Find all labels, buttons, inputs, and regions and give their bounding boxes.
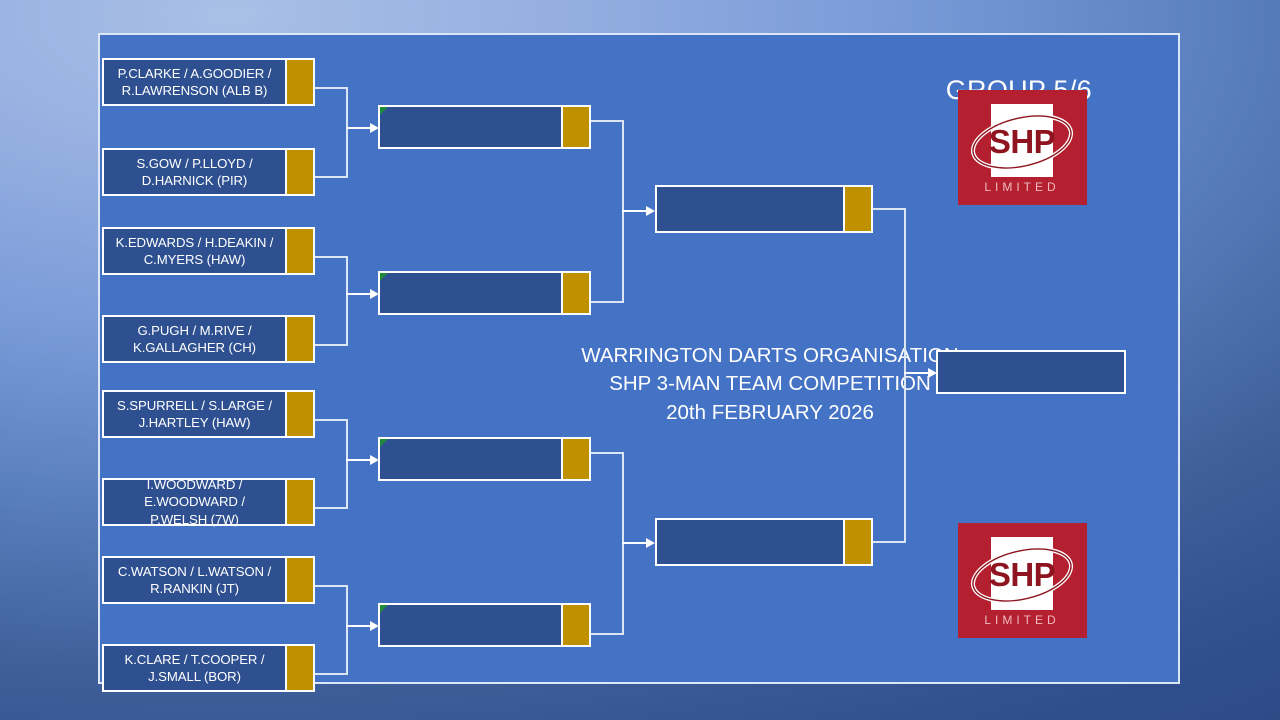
quarterfinal-score-3[interactable] (561, 437, 591, 481)
connector-qf-s1-top (591, 120, 624, 122)
connector-r1-p4-bottom (315, 673, 348, 675)
team-name-8: K.CLARE / T.COOPER / J.SMALL (BOR) (121, 651, 269, 686)
svg-text:LIMITED: LIMITED (984, 180, 1059, 194)
quarterfinal-box-4[interactable] (378, 603, 563, 647)
team-score-2[interactable] (285, 148, 315, 196)
team-box-5[interactable]: S.SPURRELL / S.LARGE / J.HARTLEY (HAW) (102, 390, 287, 438)
connector-r1-p2-arrow-line (346, 293, 372, 295)
quarterfinal-box-2[interactable] (378, 271, 563, 315)
connector-qf-s1-bottom (591, 301, 624, 303)
semifinal-score-1[interactable] (843, 185, 873, 233)
bracket-panel: GROUP 5/6 WARRINGTON DARTS ORGANISATION … (98, 33, 1180, 684)
quarterfinal-box-3[interactable] (378, 437, 563, 481)
quarterfinal-score-1[interactable] (561, 105, 591, 149)
connector-r1-p2-top (315, 256, 348, 258)
connector-r1-p1-vert (346, 87, 348, 178)
slide-canvas: GROUP 5/6 WARRINGTON DARTS ORGANISATION … (0, 0, 1280, 720)
connector-sf-final-vert (904, 208, 906, 543)
connector-r1-p4-top (315, 585, 348, 587)
connector-r1-p4-arrow-line (346, 625, 372, 627)
connector-qf-s1-arrowhead (646, 206, 655, 216)
connector-r1-p4-vert (346, 585, 348, 675)
team-score-5[interactable] (285, 390, 315, 438)
team-box-3[interactable]: K.EDWARDS / H.DEAKIN / C.MYERS (HAW) (102, 227, 287, 275)
connector-r1-p1-top (315, 87, 348, 89)
connector-qf-s2-arrow-line (622, 542, 648, 544)
quarterfinal-score-2[interactable] (561, 271, 591, 315)
team-box-4[interactable]: G.PUGH / M.RIVE / K.GALLAGHER (CH) (102, 315, 287, 363)
connector-r1-p2-bottom (315, 344, 348, 346)
shp-logo-bottom: SHP LIMITED (958, 523, 1087, 638)
winner-marker-icon (380, 107, 388, 115)
winner-marker-icon (380, 439, 388, 447)
team-name-5: S.SPURRELL / S.LARGE / J.HARTLEY (HAW) (113, 397, 276, 432)
team-box-1[interactable]: P.CLARKE / A.GOODIER / R.LAWRENSON (ALB … (102, 58, 287, 106)
semifinal-box-1[interactable] (655, 185, 845, 233)
svg-text:SHP: SHP (989, 556, 1055, 593)
team-name-1: P.CLARKE / A.GOODIER / R.LAWRENSON (ALB … (114, 65, 276, 100)
connector-sf-final-bottom (873, 541, 906, 543)
connector-sf-final-arrow-line (904, 372, 930, 374)
shp-logo-top: SHP LIMITED (958, 90, 1087, 205)
svg-text:LIMITED: LIMITED (984, 613, 1059, 627)
connector-qf-s2-bottom (591, 633, 624, 635)
team-name-2: S.GOW / P.LLOYD / D.HARNICK (PIR) (132, 155, 256, 190)
connector-r1-p3-bottom (315, 507, 348, 509)
team-box-6[interactable]: I.WOODWARD / E.WOODWARD / P.WELSH (7W) (102, 478, 287, 526)
team-name-3: K.EDWARDS / H.DEAKIN / C.MYERS (HAW) (112, 234, 278, 269)
connector-r1-p1-arrow-line (346, 127, 372, 129)
connector-r1-p2-vert (346, 256, 348, 346)
semifinal-score-2[interactable] (843, 518, 873, 566)
team-name-6: I.WOODWARD / E.WOODWARD / P.WELSH (7W) (104, 476, 285, 528)
connector-qf-s2-arrowhead (646, 538, 655, 548)
team-box-2[interactable]: S.GOW / P.LLOYD / D.HARNICK (PIR) (102, 148, 287, 196)
team-score-4[interactable] (285, 315, 315, 363)
connector-qf-s2-top (591, 452, 624, 454)
team-name-7: C.WATSON / L.WATSON / R.RANKIN (JT) (114, 563, 275, 598)
team-score-3[interactable] (285, 227, 315, 275)
team-score-1[interactable] (285, 58, 315, 106)
team-box-8[interactable]: K.CLARE / T.COOPER / J.SMALL (BOR) (102, 644, 287, 692)
quarterfinal-box-1[interactable] (378, 105, 563, 149)
connector-r1-p3-arrow-line (346, 459, 372, 461)
connector-sf-final-top (873, 208, 906, 210)
final-box[interactable] (936, 350, 1126, 394)
quarterfinal-score-4[interactable] (561, 603, 591, 647)
team-score-7[interactable] (285, 556, 315, 604)
team-score-6[interactable] (285, 478, 315, 526)
connector-r1-p3-top (315, 419, 348, 421)
team-score-8[interactable] (285, 644, 315, 692)
team-name-4: G.PUGH / M.RIVE / K.GALLAGHER (CH) (129, 322, 260, 357)
winner-marker-icon (380, 273, 388, 281)
event-title-text: WARRINGTON DARTS ORGANISATION SHP 3-MAN … (555, 342, 985, 427)
connector-r1-p3-vert (346, 419, 348, 509)
connector-qf-s1-arrow-line (622, 210, 648, 212)
winner-marker-icon (380, 605, 388, 613)
connector-r1-p1-bottom (315, 176, 348, 178)
svg-text:SHP: SHP (989, 123, 1055, 160)
team-box-7[interactable]: C.WATSON / L.WATSON / R.RANKIN (JT) (102, 556, 287, 604)
semifinal-box-2[interactable] (655, 518, 845, 566)
